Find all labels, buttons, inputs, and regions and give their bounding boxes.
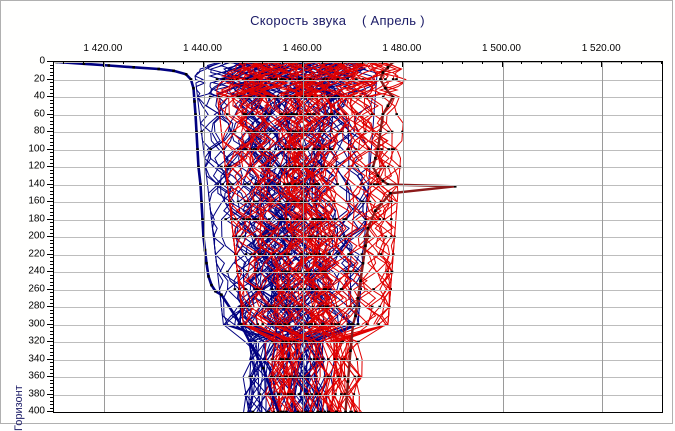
y-axis: 0204060801001201401601802002202402602803…	[53, 61, 663, 413]
y-tick-minor	[50, 352, 53, 353]
y-tick-minor	[50, 110, 53, 111]
y-tick-minor	[50, 93, 53, 94]
y-tick-major	[47, 236, 53, 237]
y-tick-minor	[50, 285, 53, 286]
y-tick-minor	[50, 173, 53, 174]
y-tick-label: 180	[11, 213, 45, 224]
y-tick-label: 120	[11, 161, 45, 172]
y-tick-minor	[50, 338, 53, 339]
y-tick-minor	[50, 268, 53, 269]
x-tick-label: 1 460.00	[283, 43, 322, 54]
y-tick-label: 0	[11, 56, 45, 67]
y-tick-minor	[50, 138, 53, 139]
chart-container: Скорость звука ( Апрель ) Горизонт 1 420…	[0, 0, 673, 424]
y-tick-minor	[50, 68, 53, 69]
y-tick-minor	[50, 299, 53, 300]
y-tick-major	[47, 79, 53, 80]
y-tick-minor	[50, 397, 53, 398]
y-tick-minor	[50, 380, 53, 381]
y-tick-label: 380	[11, 388, 45, 399]
y-tick-label: 160	[11, 196, 45, 207]
y-tick-major	[47, 254, 53, 255]
y-tick-minor	[50, 296, 53, 297]
y-tick-label: 60	[11, 108, 45, 119]
y-tick-major	[47, 341, 53, 342]
y-tick-minor	[50, 89, 53, 90]
y-tick-minor	[50, 243, 53, 244]
y-tick-minor	[50, 100, 53, 101]
y-tick-major	[47, 411, 53, 412]
y-tick-label: 140	[11, 178, 45, 189]
y-tick-minor	[50, 390, 53, 391]
y-tick-minor	[50, 117, 53, 118]
y-tick-minor	[50, 257, 53, 258]
y-tick-minor	[50, 373, 53, 374]
y-tick-label: 20	[11, 73, 45, 84]
y-tick-major	[47, 201, 53, 202]
y-tick-minor	[50, 191, 53, 192]
y-tick-minor	[50, 264, 53, 265]
y-tick-minor	[50, 240, 53, 241]
y-tick-minor	[50, 163, 53, 164]
y-tick-major	[47, 96, 53, 97]
y-tick-minor	[50, 233, 53, 234]
y-tick-minor	[50, 261, 53, 262]
y-tick-minor	[50, 177, 53, 178]
y-tick-minor	[50, 331, 53, 332]
y-tick-minor	[50, 404, 53, 405]
y-tick-minor	[50, 145, 53, 146]
y-tick-minor	[50, 250, 53, 251]
x-tick-label: 1 520.00	[582, 43, 621, 54]
y-tick-label: 340	[11, 353, 45, 364]
x-tick-label: 1 480.00	[382, 43, 421, 54]
y-tick-minor	[50, 383, 53, 384]
y-tick-label: 260	[11, 283, 45, 294]
y-tick-minor	[50, 229, 53, 230]
y-tick-minor	[50, 334, 53, 335]
y-tick-minor	[50, 355, 53, 356]
y-tick-minor	[50, 198, 53, 199]
x-tick-label: 1 420.00	[83, 43, 122, 54]
y-tick-minor	[50, 124, 53, 125]
y-tick-minor	[50, 369, 53, 370]
y-tick-minor	[50, 180, 53, 181]
y-tick-minor	[50, 278, 53, 279]
y-tick-major	[47, 149, 53, 150]
y-tick-minor	[50, 107, 53, 108]
y-tick-label: 220	[11, 248, 45, 259]
y-tick-minor	[50, 121, 53, 122]
y-tick-minor	[50, 310, 53, 311]
y-tick-minor	[50, 152, 53, 153]
y-tick-minor	[50, 215, 53, 216]
y-tick-minor	[50, 317, 53, 318]
y-tick-minor	[50, 187, 53, 188]
y-tick-label: 200	[11, 231, 45, 242]
y-tick-minor	[50, 156, 53, 157]
y-tick-major	[47, 219, 53, 220]
y-tick-major	[47, 114, 53, 115]
y-tick-minor	[50, 208, 53, 209]
y-tick-minor	[50, 135, 53, 136]
y-tick-minor	[50, 401, 53, 402]
y-tick-minor	[50, 320, 53, 321]
y-tick-minor	[50, 362, 53, 363]
y-tick-minor	[50, 128, 53, 129]
y-tick-minor	[50, 205, 53, 206]
y-tick-label: 300	[11, 318, 45, 329]
y-tick-minor	[50, 75, 53, 76]
y-tick-label: 240	[11, 266, 45, 277]
y-tick-minor	[50, 72, 53, 73]
y-tick-minor	[50, 247, 53, 248]
y-tick-label: 40	[11, 91, 45, 102]
y-tick-minor	[50, 282, 53, 283]
y-tick-label: 400	[11, 406, 45, 417]
y-tick-minor	[50, 159, 53, 160]
y-tick-minor	[50, 345, 53, 346]
y-tick-minor	[50, 292, 53, 293]
y-tick-minor	[50, 212, 53, 213]
y-tick-minor	[50, 65, 53, 66]
y-tick-minor	[50, 170, 53, 171]
y-tick-minor	[50, 303, 53, 304]
chart-title: Скорость звука ( Апрель )	[1, 13, 674, 28]
x-tick-label: 1 500.00	[482, 43, 521, 54]
y-tick-minor	[50, 327, 53, 328]
y-tick-label: 80	[11, 126, 45, 137]
y-tick-label: 320	[11, 336, 45, 347]
y-tick-minor	[50, 82, 53, 83]
y-tick-minor	[50, 226, 53, 227]
y-tick-label: 280	[11, 301, 45, 312]
y-tick-major	[47, 271, 53, 272]
y-tick-minor	[50, 275, 53, 276]
y-tick-major	[47, 306, 53, 307]
y-tick-minor	[50, 366, 53, 367]
y-tick-major	[47, 61, 53, 62]
y-tick-minor	[50, 142, 53, 143]
y-tick-minor	[50, 387, 53, 388]
y-tick-major	[47, 394, 53, 395]
y-tick-major	[47, 324, 53, 325]
y-tick-minor	[50, 222, 53, 223]
y-tick-major	[47, 131, 53, 132]
y-tick-minor	[50, 408, 53, 409]
y-tick-label: 360	[11, 371, 45, 382]
y-tick-label: 100	[11, 143, 45, 154]
y-tick-minor	[50, 313, 53, 314]
x-tick-label: 1 440.00	[183, 43, 222, 54]
y-tick-minor	[50, 103, 53, 104]
y-tick-major	[47, 376, 53, 377]
y-tick-minor	[50, 86, 53, 87]
y-tick-major	[47, 166, 53, 167]
y-tick-minor	[50, 194, 53, 195]
y-tick-minor	[50, 348, 53, 349]
y-tick-major	[47, 289, 53, 290]
y-tick-major	[47, 359, 53, 360]
y-tick-major	[47, 184, 53, 185]
